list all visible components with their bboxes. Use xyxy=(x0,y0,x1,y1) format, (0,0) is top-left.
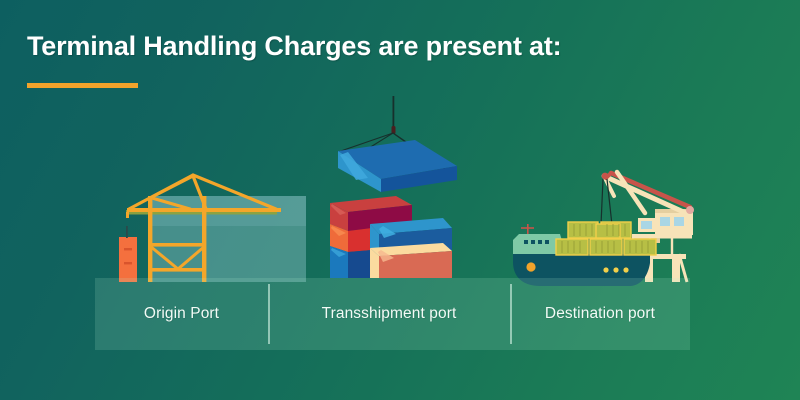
cream-container-top xyxy=(370,243,452,256)
cream-container-left xyxy=(370,248,379,278)
boom-pivot-tip xyxy=(602,173,609,180)
page-title: Terminal Handling Charges are present at… xyxy=(27,30,667,62)
container-back-column xyxy=(330,196,412,278)
crane-boom-tip xyxy=(265,208,281,212)
crane-house-roof xyxy=(655,209,693,213)
panel-label-destination-port: Destination port xyxy=(545,305,655,323)
crane-window-2 xyxy=(674,217,684,226)
maroon-shine xyxy=(331,204,346,215)
ship-superstructure xyxy=(513,234,566,254)
crane-cabin-window xyxy=(641,221,652,229)
bridge-window-2 xyxy=(531,240,535,244)
orange-tower xyxy=(119,237,137,282)
maroon-container-left xyxy=(330,203,348,231)
ship-mast xyxy=(527,224,529,234)
blue-container-left xyxy=(330,246,348,278)
hull-light-3 xyxy=(623,267,628,272)
maroon-container-top xyxy=(330,196,412,212)
crane-boom xyxy=(604,172,690,214)
hoisted-container xyxy=(596,224,620,238)
salmon-container-face xyxy=(379,251,452,278)
container-ribs xyxy=(562,224,648,253)
deck-containers-lower xyxy=(556,239,656,255)
tower-antenna xyxy=(126,226,128,238)
suspended-container-right-face xyxy=(381,166,457,192)
maroon-container-face xyxy=(348,205,412,231)
crane-leg-left xyxy=(148,196,152,282)
crane-hoist-lines xyxy=(601,179,612,225)
hoist-cable xyxy=(393,96,395,132)
hoist-hook xyxy=(392,126,396,134)
crane-main-beam xyxy=(127,208,277,212)
panel-cell-destination-port[interactable]: Destination port xyxy=(510,278,690,350)
ship-porthole xyxy=(526,262,535,271)
deck-container-4 xyxy=(568,222,598,238)
panel-cell-transshipment-port[interactable]: Transshipment port xyxy=(268,278,510,350)
orange-container-face xyxy=(348,228,372,252)
crane-mid-rail xyxy=(634,238,660,243)
blue-shine xyxy=(331,248,346,257)
crane-hook-left xyxy=(126,212,129,218)
panel-label-origin-port: Origin Port xyxy=(144,305,219,323)
salmon-shine xyxy=(378,250,394,262)
ship-hull-upper xyxy=(513,254,650,263)
crane-machine-house xyxy=(655,212,693,235)
crane-body-panel xyxy=(148,196,306,282)
bridge-window-4 xyxy=(545,240,549,244)
deck-container-1 xyxy=(556,239,588,255)
crane-mid-supports xyxy=(650,238,672,254)
port-stage-panel: Origin Port Transshipment port Destinati… xyxy=(95,278,690,350)
orange-tower-band-2 xyxy=(124,262,132,264)
deck-containers-upper xyxy=(568,222,631,238)
ship-and-harbor-crane-illustration xyxy=(513,172,694,286)
crane-body-panel-highlight xyxy=(148,196,306,226)
orange-shine xyxy=(331,226,346,236)
bridge-window-3 xyxy=(538,240,542,244)
blue-container-face xyxy=(348,250,372,278)
crane-operator-cabin xyxy=(638,218,655,232)
bridge-window-1 xyxy=(524,240,528,244)
container-stack-illustration xyxy=(330,96,457,278)
title-accent-rule xyxy=(27,83,138,88)
hull-light-2 xyxy=(613,267,618,272)
suspended-container xyxy=(338,140,457,192)
crane-crossbar-upper xyxy=(148,243,206,247)
infographic-canvas: Terminal Handling Charges are present at… xyxy=(0,0,800,400)
deck-container-3 xyxy=(624,239,656,255)
harbor-crane xyxy=(601,172,694,282)
deck-container-5 xyxy=(601,222,631,238)
navy-container-top xyxy=(370,218,452,234)
deck-container-2 xyxy=(590,239,622,255)
crane-truss xyxy=(129,175,276,209)
crane-leg-bracing xyxy=(150,246,205,269)
crane-beam-shadow xyxy=(126,210,277,215)
crane-leg-right xyxy=(202,196,206,282)
crane-crossbar-lower xyxy=(148,268,206,272)
crane-base-deck xyxy=(639,254,686,259)
navy-shine xyxy=(379,226,396,238)
orange-tower-band-1 xyxy=(124,248,132,250)
gantry-crane-illustration xyxy=(119,175,306,282)
crane-mid-platform xyxy=(632,234,692,239)
suspended-container-left-face xyxy=(338,151,381,192)
title-block: Terminal Handling Charges are present at… xyxy=(27,30,667,62)
container-front-column xyxy=(370,218,452,278)
navy-container-face xyxy=(379,228,452,256)
crane-window-1 xyxy=(660,217,670,226)
container-ship xyxy=(513,222,656,286)
navy-container-left xyxy=(370,224,379,256)
sling-lines xyxy=(338,133,450,172)
suspended-container-top xyxy=(338,140,457,179)
panel-cell-origin-port[interactable]: Origin Port xyxy=(95,278,268,350)
panel-label-transshipment-port: Transshipment port xyxy=(322,305,457,323)
suspended-container-shine xyxy=(340,152,368,180)
orange-container-left xyxy=(330,224,348,252)
hull-light-1 xyxy=(603,267,608,272)
boom-counterweight xyxy=(686,206,694,214)
